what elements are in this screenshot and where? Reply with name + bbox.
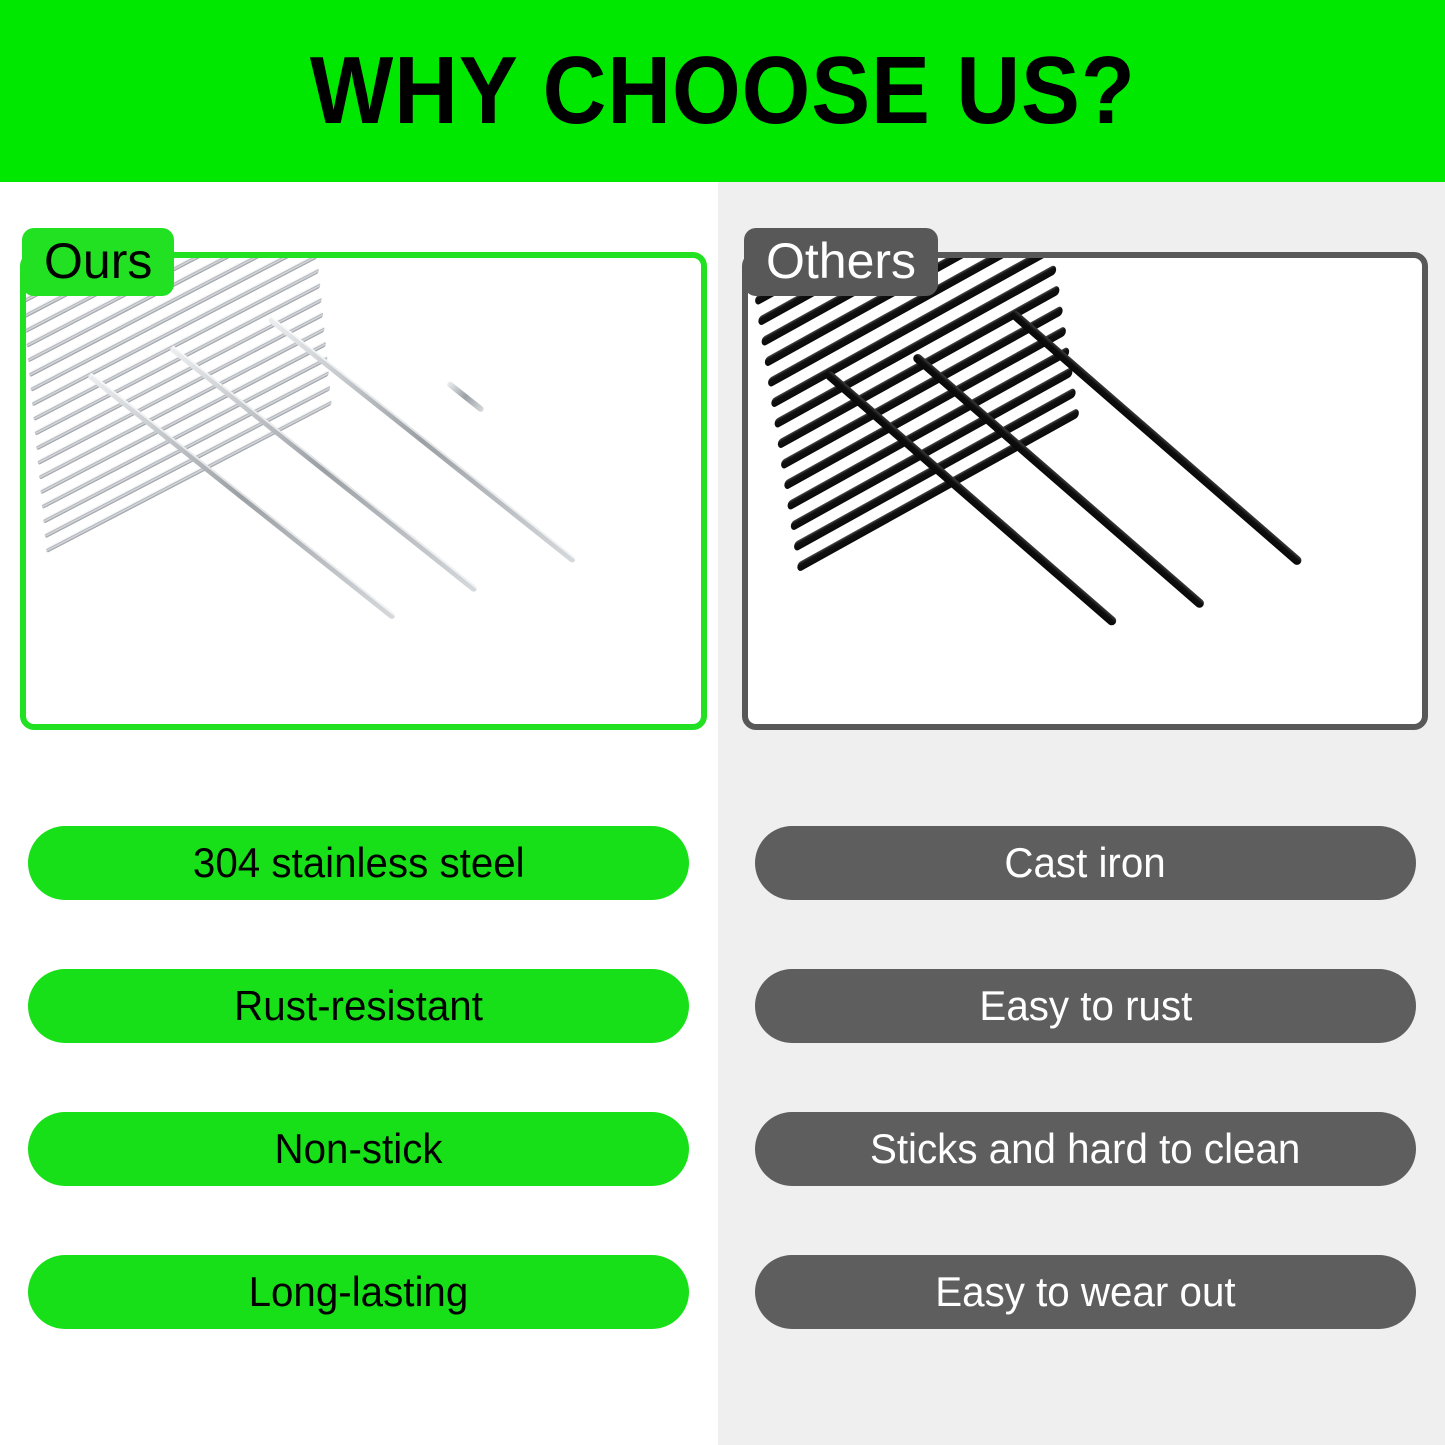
others-feature-label-3: Sticks and hard to clean	[870, 1125, 1300, 1173]
others-feature-pill-4: Easy to wear out	[755, 1255, 1416, 1329]
stainless-grate-icon	[26, 258, 701, 724]
others-feature-label-4: Easy to wear out	[935, 1268, 1235, 1316]
others-feature-pill-3: Sticks and hard to clean	[755, 1112, 1416, 1186]
others-feature-pill-1: Cast iron	[755, 826, 1416, 900]
others-image-box: Others	[742, 252, 1428, 730]
ours-feature-label-3: Non-stick	[274, 1125, 442, 1173]
others-feature-label-2: Easy to rust	[979, 982, 1192, 1030]
header-banner: WHY CHOOSE US?	[0, 0, 1445, 182]
ours-badge: Ours	[22, 228, 174, 296]
others-feature-label-1: Cast iron	[1005, 839, 1166, 887]
ours-feature-label-4: Long-lasting	[249, 1268, 469, 1316]
cast-iron-grate-image	[748, 258, 1422, 724]
page-title: WHY CHOOSE US?	[310, 43, 1136, 139]
ours-feature-pill-3: Non-stick	[28, 1112, 689, 1186]
others-badge: Others	[744, 228, 938, 296]
ours-feature-pill-2: Rust-resistant	[28, 969, 689, 1043]
ours-feature-pill-4: Long-lasting	[28, 1255, 689, 1329]
stainless-steel-grate-image	[26, 258, 701, 724]
ours-feature-label-1: 304 stainless steel	[193, 839, 525, 887]
steel-rod-group	[26, 258, 417, 553]
cast-iron-grate-icon	[748, 258, 1422, 724]
others-feature-pill-2: Easy to rust	[755, 969, 1416, 1043]
comparison-infographic: WHY CHOOSE US?	[0, 0, 1445, 1445]
iron-bar-group	[748, 258, 1163, 573]
ours-feature-pill-1: 304 stainless steel	[28, 826, 689, 900]
ours-feature-label-2: Rust-resistant	[234, 982, 483, 1030]
ours-image-box: Ours	[20, 252, 707, 730]
steel-crossbar-group	[87, 316, 576, 620]
